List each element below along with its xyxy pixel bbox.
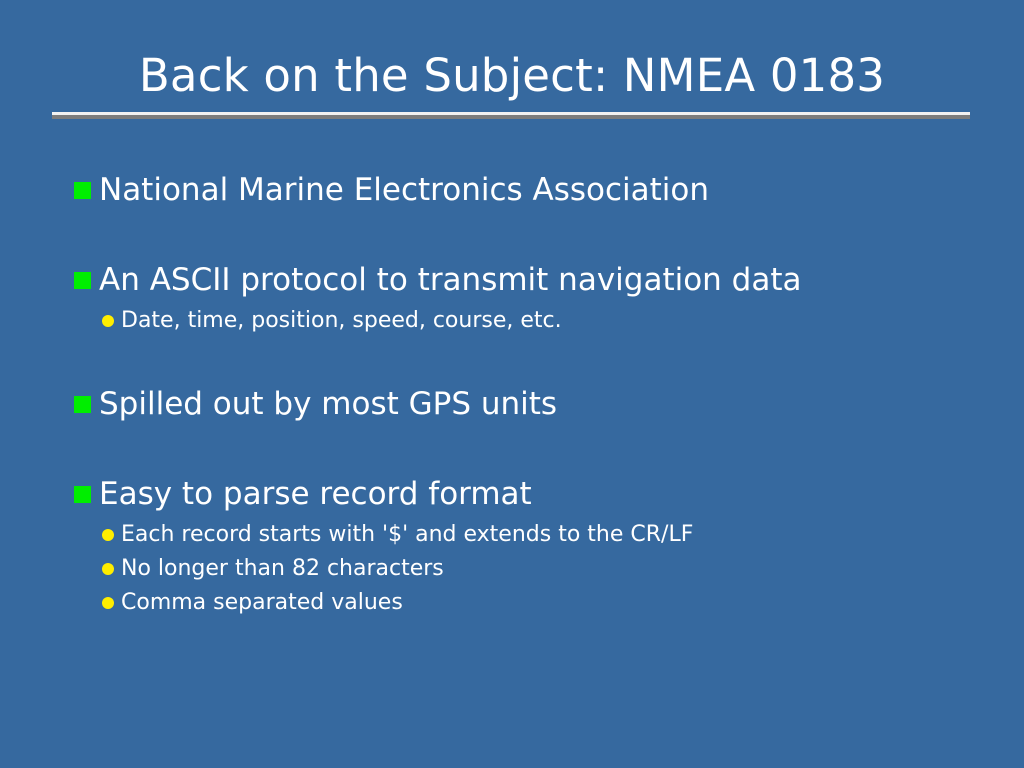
bullet-level2-label: Comma separated values [121, 586, 403, 620]
square-bullet-icon [74, 182, 91, 199]
bullet-level1: National Marine Electronics Association [74, 168, 974, 214]
bullet-level1-label: Easy to parse record format [99, 472, 532, 516]
square-bullet-icon [74, 486, 91, 503]
bullet-level2: Comma separated values [102, 586, 974, 620]
square-bullet-icon [74, 272, 91, 289]
square-bullet-icon [74, 396, 91, 413]
bullet-group-3: Spilled out by most GPS units [74, 382, 974, 428]
bullet-level2-label: No longer than 82 characters [121, 552, 444, 586]
bullet-group-4: Easy to parse record format Each record … [74, 472, 974, 620]
bullet-level1: Easy to parse record format [74, 472, 974, 518]
content-body: National Marine Electronics Association … [74, 168, 974, 638]
bullet-level1-label: National Marine Electronics Association [99, 168, 709, 212]
bullet-level1: Spilled out by most GPS units [74, 382, 974, 428]
bullet-level2: Date, time, position, speed, course, etc… [102, 304, 974, 338]
bullet-level2-label: Each record starts with '$' and extends … [121, 518, 693, 552]
dot-bullet-icon [102, 315, 114, 327]
dot-bullet-icon [102, 563, 114, 575]
dot-bullet-icon [102, 529, 114, 541]
dot-bullet-icon [102, 597, 114, 609]
title-block: Back on the Subject: NMEA 0183 [0, 52, 1024, 99]
bullet-level1-label: Spilled out by most GPS units [99, 382, 557, 426]
bullet-group-2: An ASCII protocol to transmit navigation… [74, 258, 974, 338]
bullet-level2-label: Date, time, position, speed, course, etc… [121, 304, 562, 338]
title-divider [52, 112, 970, 119]
page-title: Back on the Subject: NMEA 0183 [139, 52, 885, 99]
bullet-level1-label: An ASCII protocol to transmit navigation… [99, 258, 802, 302]
divider-shadow-line [52, 115, 970, 119]
bullet-level2: No longer than 82 characters [102, 552, 974, 586]
group-spacer [74, 232, 974, 258]
bullet-group-1: National Marine Electronics Association [74, 168, 974, 214]
bullet-level1: An ASCII protocol to transmit navigation… [74, 258, 974, 304]
slide: Back on the Subject: NMEA 0183 National … [0, 0, 1024, 768]
bullet-level2: Each record starts with '$' and extends … [102, 518, 974, 552]
group-spacer [74, 356, 974, 382]
group-spacer [74, 446, 974, 472]
